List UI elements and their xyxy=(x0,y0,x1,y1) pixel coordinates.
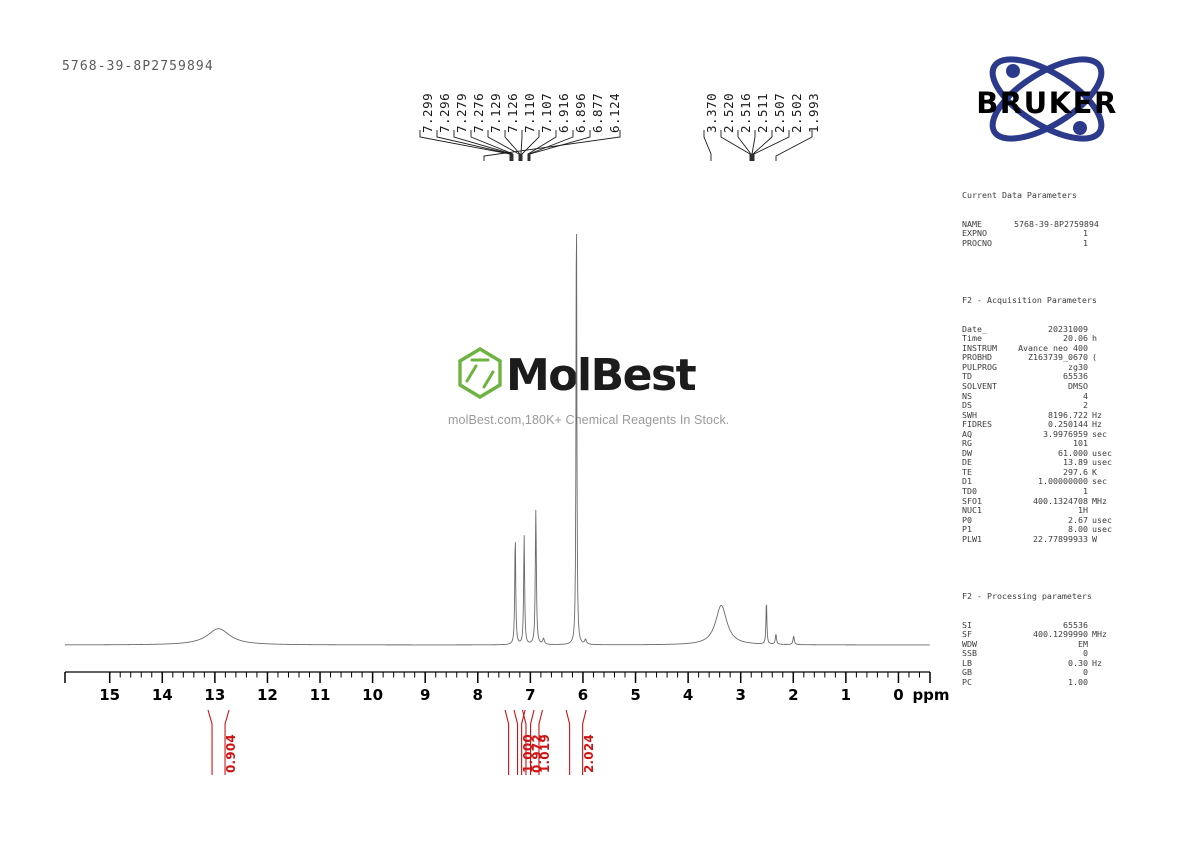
peak-value-label: 7.107 xyxy=(539,93,554,133)
peak-value-label: 7.110 xyxy=(522,93,537,133)
peak-value-label: 7.299 xyxy=(420,93,435,133)
peak-value-label: 7.279 xyxy=(454,93,469,133)
peak-value-label: 7.276 xyxy=(471,93,486,133)
peak-value-label: 2.507 xyxy=(772,93,787,133)
peak-value-label: 2.520 xyxy=(721,93,736,133)
peak-value-label: 6.124 xyxy=(607,93,622,133)
peak-value-label: 7.126 xyxy=(505,93,520,133)
peak-value-label: 6.896 xyxy=(573,93,588,133)
peak-value-label: 2.511 xyxy=(755,93,770,133)
peak-value-label: 3.370 xyxy=(704,93,719,133)
peak-value-label: 2.516 xyxy=(738,93,753,133)
peak-value-label: 2.502 xyxy=(789,93,804,133)
peak-value-label: 7.296 xyxy=(437,93,452,133)
peak-value-label: 7.129 xyxy=(488,93,503,133)
nmr-report-page: 5768-39-8P2759894 BRUKER xyxy=(0,0,1190,842)
peak-value-labels: 7.2997.2967.2797.2767.1297.1267.1107.107… xyxy=(0,0,1190,842)
peak-value-label: 1.993 xyxy=(806,93,821,133)
peak-value-label: 6.877 xyxy=(590,93,605,133)
peak-value-label: 6.916 xyxy=(556,93,571,133)
